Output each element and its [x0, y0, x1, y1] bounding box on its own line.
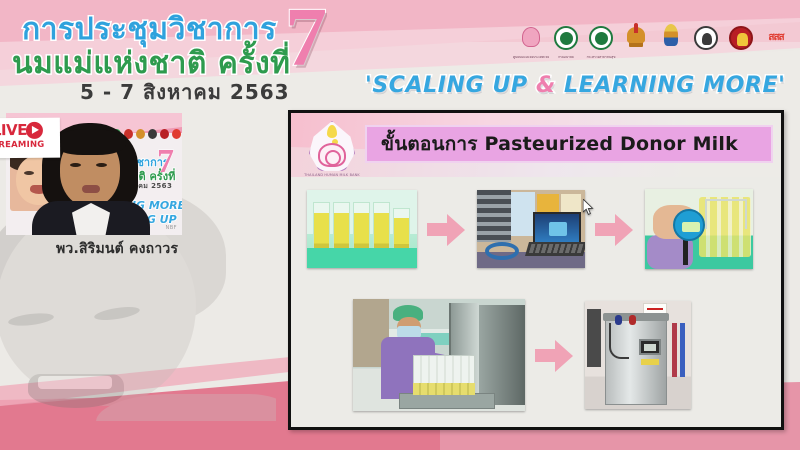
tagline-prefix: 'SCALING UP	[365, 73, 536, 98]
national-garuda-logo	[727, 26, 755, 56]
nursing-council-logo	[692, 26, 720, 56]
slide-title-banner: ขั้นตอนการ Pasteurized Donor Milk	[365, 125, 773, 163]
photo-milk-bottle-racks	[307, 190, 417, 268]
royal-crown-emblem-logo	[657, 26, 685, 56]
streaming-label: STREAMING	[0, 140, 44, 151]
conference-dates: 5 - 7 สิงหาคม 2563	[80, 76, 290, 108]
process-row-1	[307, 189, 753, 269]
logo-caption: ศูนย์นมแม่แห่งประเทศไทย	[513, 56, 549, 60]
photo-nurse-loading-bottles	[353, 299, 525, 411]
edition-number: 7	[285, 0, 327, 80]
presentation-slide[interactable]: THAILAND HUMAN MILK BANK ขั้นตอนการ Past…	[288, 110, 784, 430]
play-icon	[26, 122, 43, 139]
tagline-suffix: LEARNING MORE'	[556, 73, 786, 98]
screen-stage: การประชุมวิชาการ นมแม่แห่งชาติ ครั้งที่ …	[0, 0, 800, 450]
process-row-2	[353, 299, 691, 411]
sponsor-logo-strip: ศูนย์นมแม่แห่งประเทศไทย กรมอนามัย กระทรว…	[517, 26, 790, 56]
arrow-2-icon	[595, 212, 635, 246]
milk-bank-logo-caption: THAILAND HUMAN MILK BANK	[301, 173, 363, 177]
logo-caption: กระทรวงสาธารณสุข	[583, 56, 619, 60]
photo-temperature-timer	[645, 189, 753, 269]
thai-breastfeeding-centre-logo: ศูนย์นมแม่แห่งประเทศไทย	[517, 26, 545, 56]
conference-tagline: 'SCALING UP & LEARNING MORE'	[365, 73, 785, 98]
live-label: LIVE	[0, 121, 27, 139]
department-health-logo: กระทรวงสาธารณสุข	[587, 26, 615, 56]
speaker-name-caption: พว.สิริมนต์ คงถาวร	[56, 238, 178, 260]
thaihealth-sss-logo: สสส	[762, 26, 790, 56]
photo-pasteurizer-machine	[585, 301, 691, 409]
slide-title: ขั้นตอนการ Pasteurized Donor Milk	[367, 129, 738, 159]
poster-edition-number: 7	[157, 145, 174, 179]
ministry-public-health-logo: กรมอนามัย	[552, 26, 580, 56]
logo-caption: กรมอนามัย	[548, 56, 584, 60]
photo-laptop-records	[477, 190, 585, 268]
royal-thai-emblem-logo	[622, 26, 650, 56]
mouse-cursor-icon	[583, 199, 594, 215]
arrow-1-icon	[427, 212, 467, 246]
live-streaming-badge: LIVE STREAMING	[0, 118, 60, 159]
tagline-ampersand: &	[536, 73, 556, 98]
video-watermark: NBF	[165, 225, 177, 231]
arrow-3-icon	[535, 338, 575, 372]
human-milk-bank-logo: THAILAND HUMAN MILK BANK	[303, 119, 361, 177]
logo-caption: สสส	[762, 29, 790, 47]
